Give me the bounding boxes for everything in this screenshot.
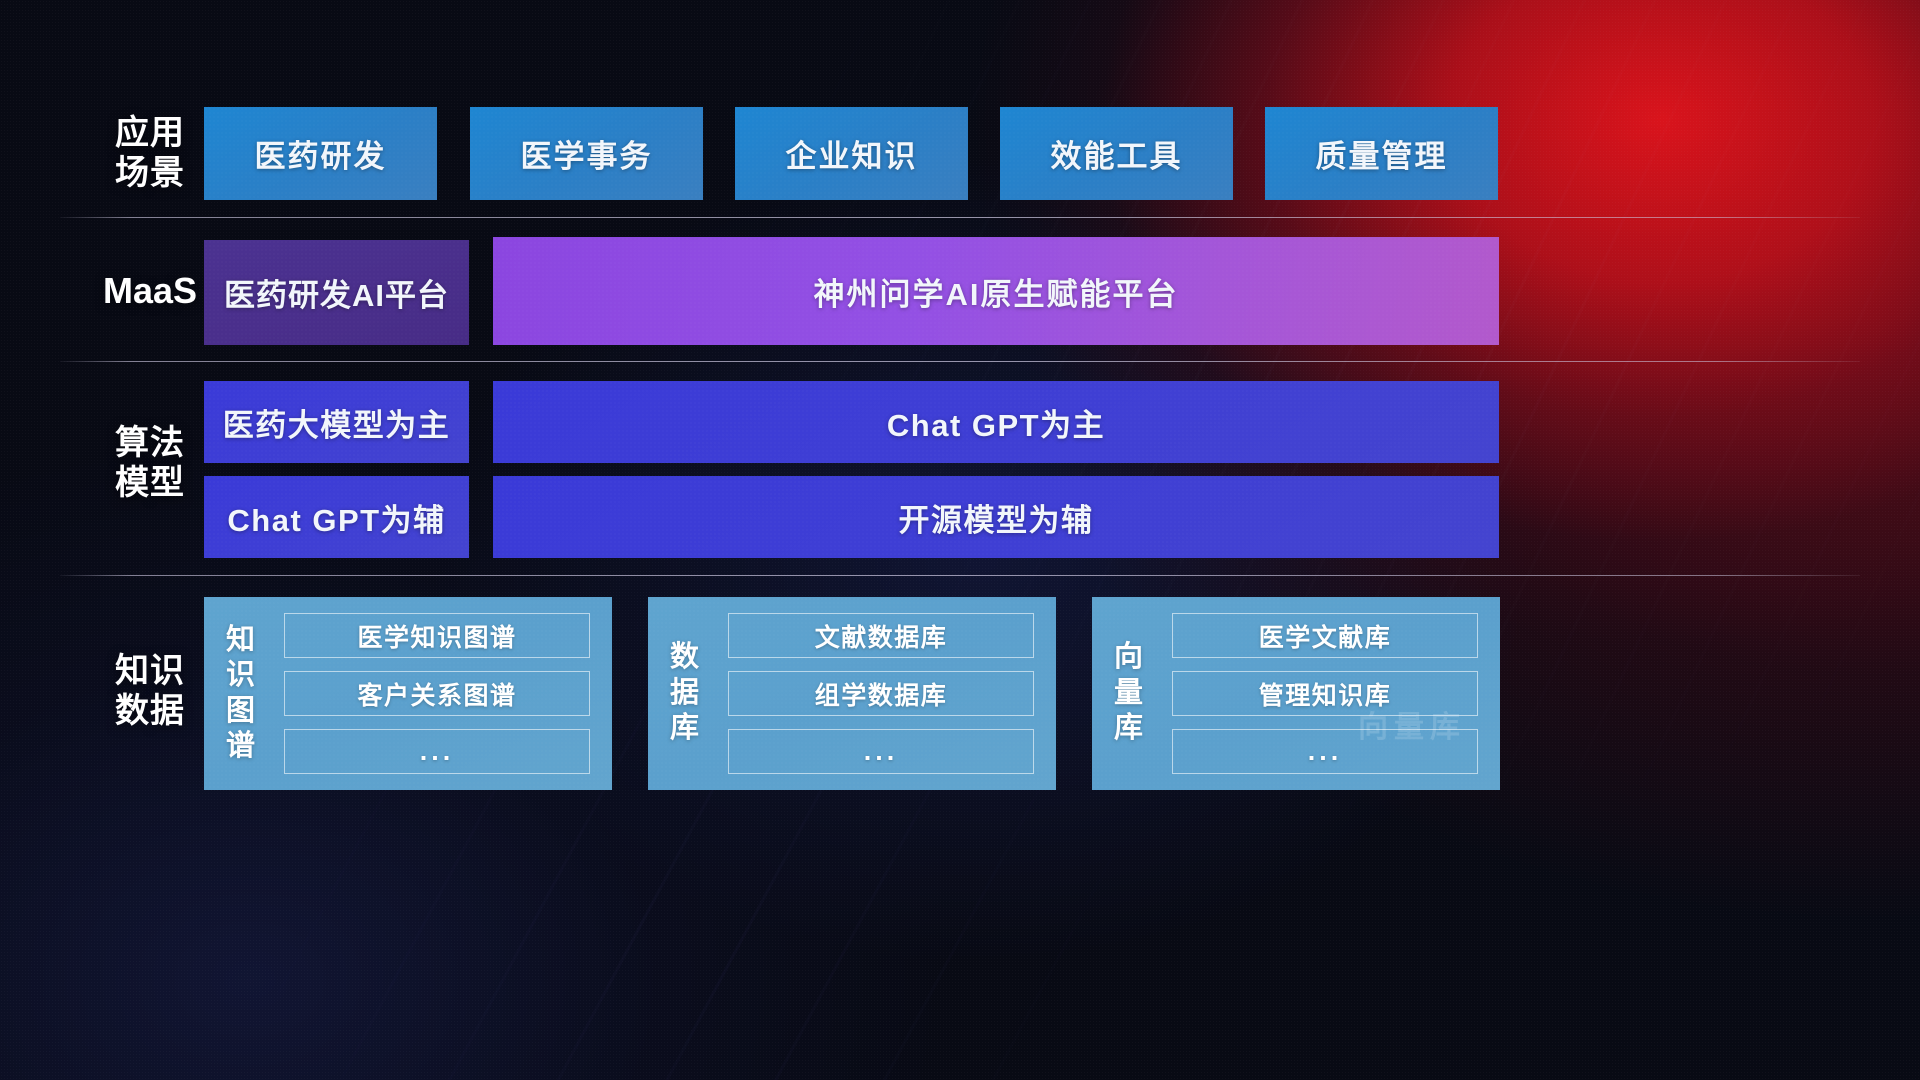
side-label-char: 知 [226, 623, 256, 658]
knowledge-panel-side-label: 向 量 库 [1092, 597, 1166, 790]
knowledge-chip[interactable]: 文献数据库 [728, 613, 1034, 658]
algorithm-box-label: Chat GPT为主 [887, 400, 1105, 445]
maas-box-label: 医药研发AI平台 [224, 270, 449, 315]
side-label-char: 数 [670, 640, 700, 675]
knowledge-chip-more[interactable]: ... [1172, 729, 1478, 774]
algorithm-box-opensource-secondary[interactable]: 开源模型为辅 [493, 476, 1499, 558]
algorithm-box-label: 开源模型为辅 [899, 495, 1094, 540]
scenario-box-quality-management[interactable]: 质量管理 [1265, 107, 1498, 200]
knowledge-chip-more[interactable]: ... [728, 729, 1034, 774]
scenario-box-efficiency-tools[interactable]: 效能工具 [1000, 107, 1233, 200]
knowledge-panel-database[interactable]: 数 据 库 文献数据库 组学数据库 ... [648, 597, 1056, 790]
knowledge-chip[interactable]: 管理知识库 [1172, 671, 1478, 716]
side-label-char: 库 [670, 711, 700, 746]
side-label-char: 谱 [226, 729, 256, 764]
knowledge-panel-knowledge-graph[interactable]: 知 识 图 谱 医学知识图谱 客户关系图谱 ... [204, 597, 612, 790]
knowledge-panel-vector-store[interactable]: 向量库 向 量 库 医学文献库 管理知识库 ... [1092, 597, 1500, 790]
side-label-char: 量 [1114, 676, 1144, 711]
scenario-box-label: 医药研发 [255, 131, 387, 176]
algorithm-box-chatgpt-primary[interactable]: Chat GPT为主 [493, 381, 1499, 463]
algorithm-box-label: Chat GPT为辅 [227, 495, 445, 540]
maas-box-pharma-ai-platform[interactable]: 医药研发AI平台 [204, 240, 469, 345]
side-label-char: 识 [226, 658, 256, 693]
divider-maas-algorithm [60, 361, 1860, 362]
scenario-box-label: 企业知识 [786, 131, 918, 176]
knowledge-panel-items: 文献数据库 组学数据库 ... [722, 597, 1056, 790]
scenario-box-label: 质量管理 [1316, 131, 1448, 176]
knowledge-panel-side-label: 知 识 图 谱 [204, 597, 278, 790]
knowledge-chip-more[interactable]: ... [284, 729, 590, 774]
knowledge-chip[interactable]: 组学数据库 [728, 671, 1034, 716]
algorithm-box-chatgpt-secondary[interactable]: Chat GPT为辅 [204, 476, 469, 558]
knowledge-panel-items: 医学文献库 管理知识库 ... [1166, 597, 1500, 790]
scenario-box-label: 效能工具 [1051, 131, 1183, 176]
side-label-char: 向 [1114, 640, 1144, 675]
scenario-box-medical-affairs[interactable]: 医学事务 [470, 107, 703, 200]
knowledge-chip[interactable]: 医学知识图谱 [284, 613, 590, 658]
side-label-char: 图 [226, 694, 256, 729]
side-label-char: 据 [670, 676, 700, 711]
scenario-box-label: 医学事务 [521, 131, 653, 176]
side-label-char: 库 [1114, 711, 1144, 746]
scenario-box-pharma-rd[interactable]: 医药研发 [204, 107, 437, 200]
divider-algorithm-knowledge [60, 575, 1860, 576]
knowledge-chip[interactable]: 客户关系图谱 [284, 671, 590, 716]
knowledge-panel-side-label: 数 据 库 [648, 597, 722, 790]
maas-box-shenzhou-wenxue-platform[interactable]: 神州问学AI原生赋能平台 [493, 237, 1499, 345]
scenario-box-enterprise-knowledge[interactable]: 企业知识 [735, 107, 968, 200]
knowledge-panel-items: 医学知识图谱 客户关系图谱 ... [278, 597, 612, 790]
diagram-canvas: 应用 场景 医药研发 医学事务 企业知识 效能工具 质量管理 MaaS [0, 0, 1920, 1080]
maas-box-label: 神州问学AI原生赋能平台 [814, 269, 1179, 314]
algorithm-box-pharma-llm-primary[interactable]: 医药大模型为主 [204, 381, 469, 463]
algorithm-box-label: 医药大模型为主 [223, 400, 451, 445]
knowledge-chip[interactable]: 医学文献库 [1172, 613, 1478, 658]
divider-scenario-maas [60, 217, 1860, 218]
